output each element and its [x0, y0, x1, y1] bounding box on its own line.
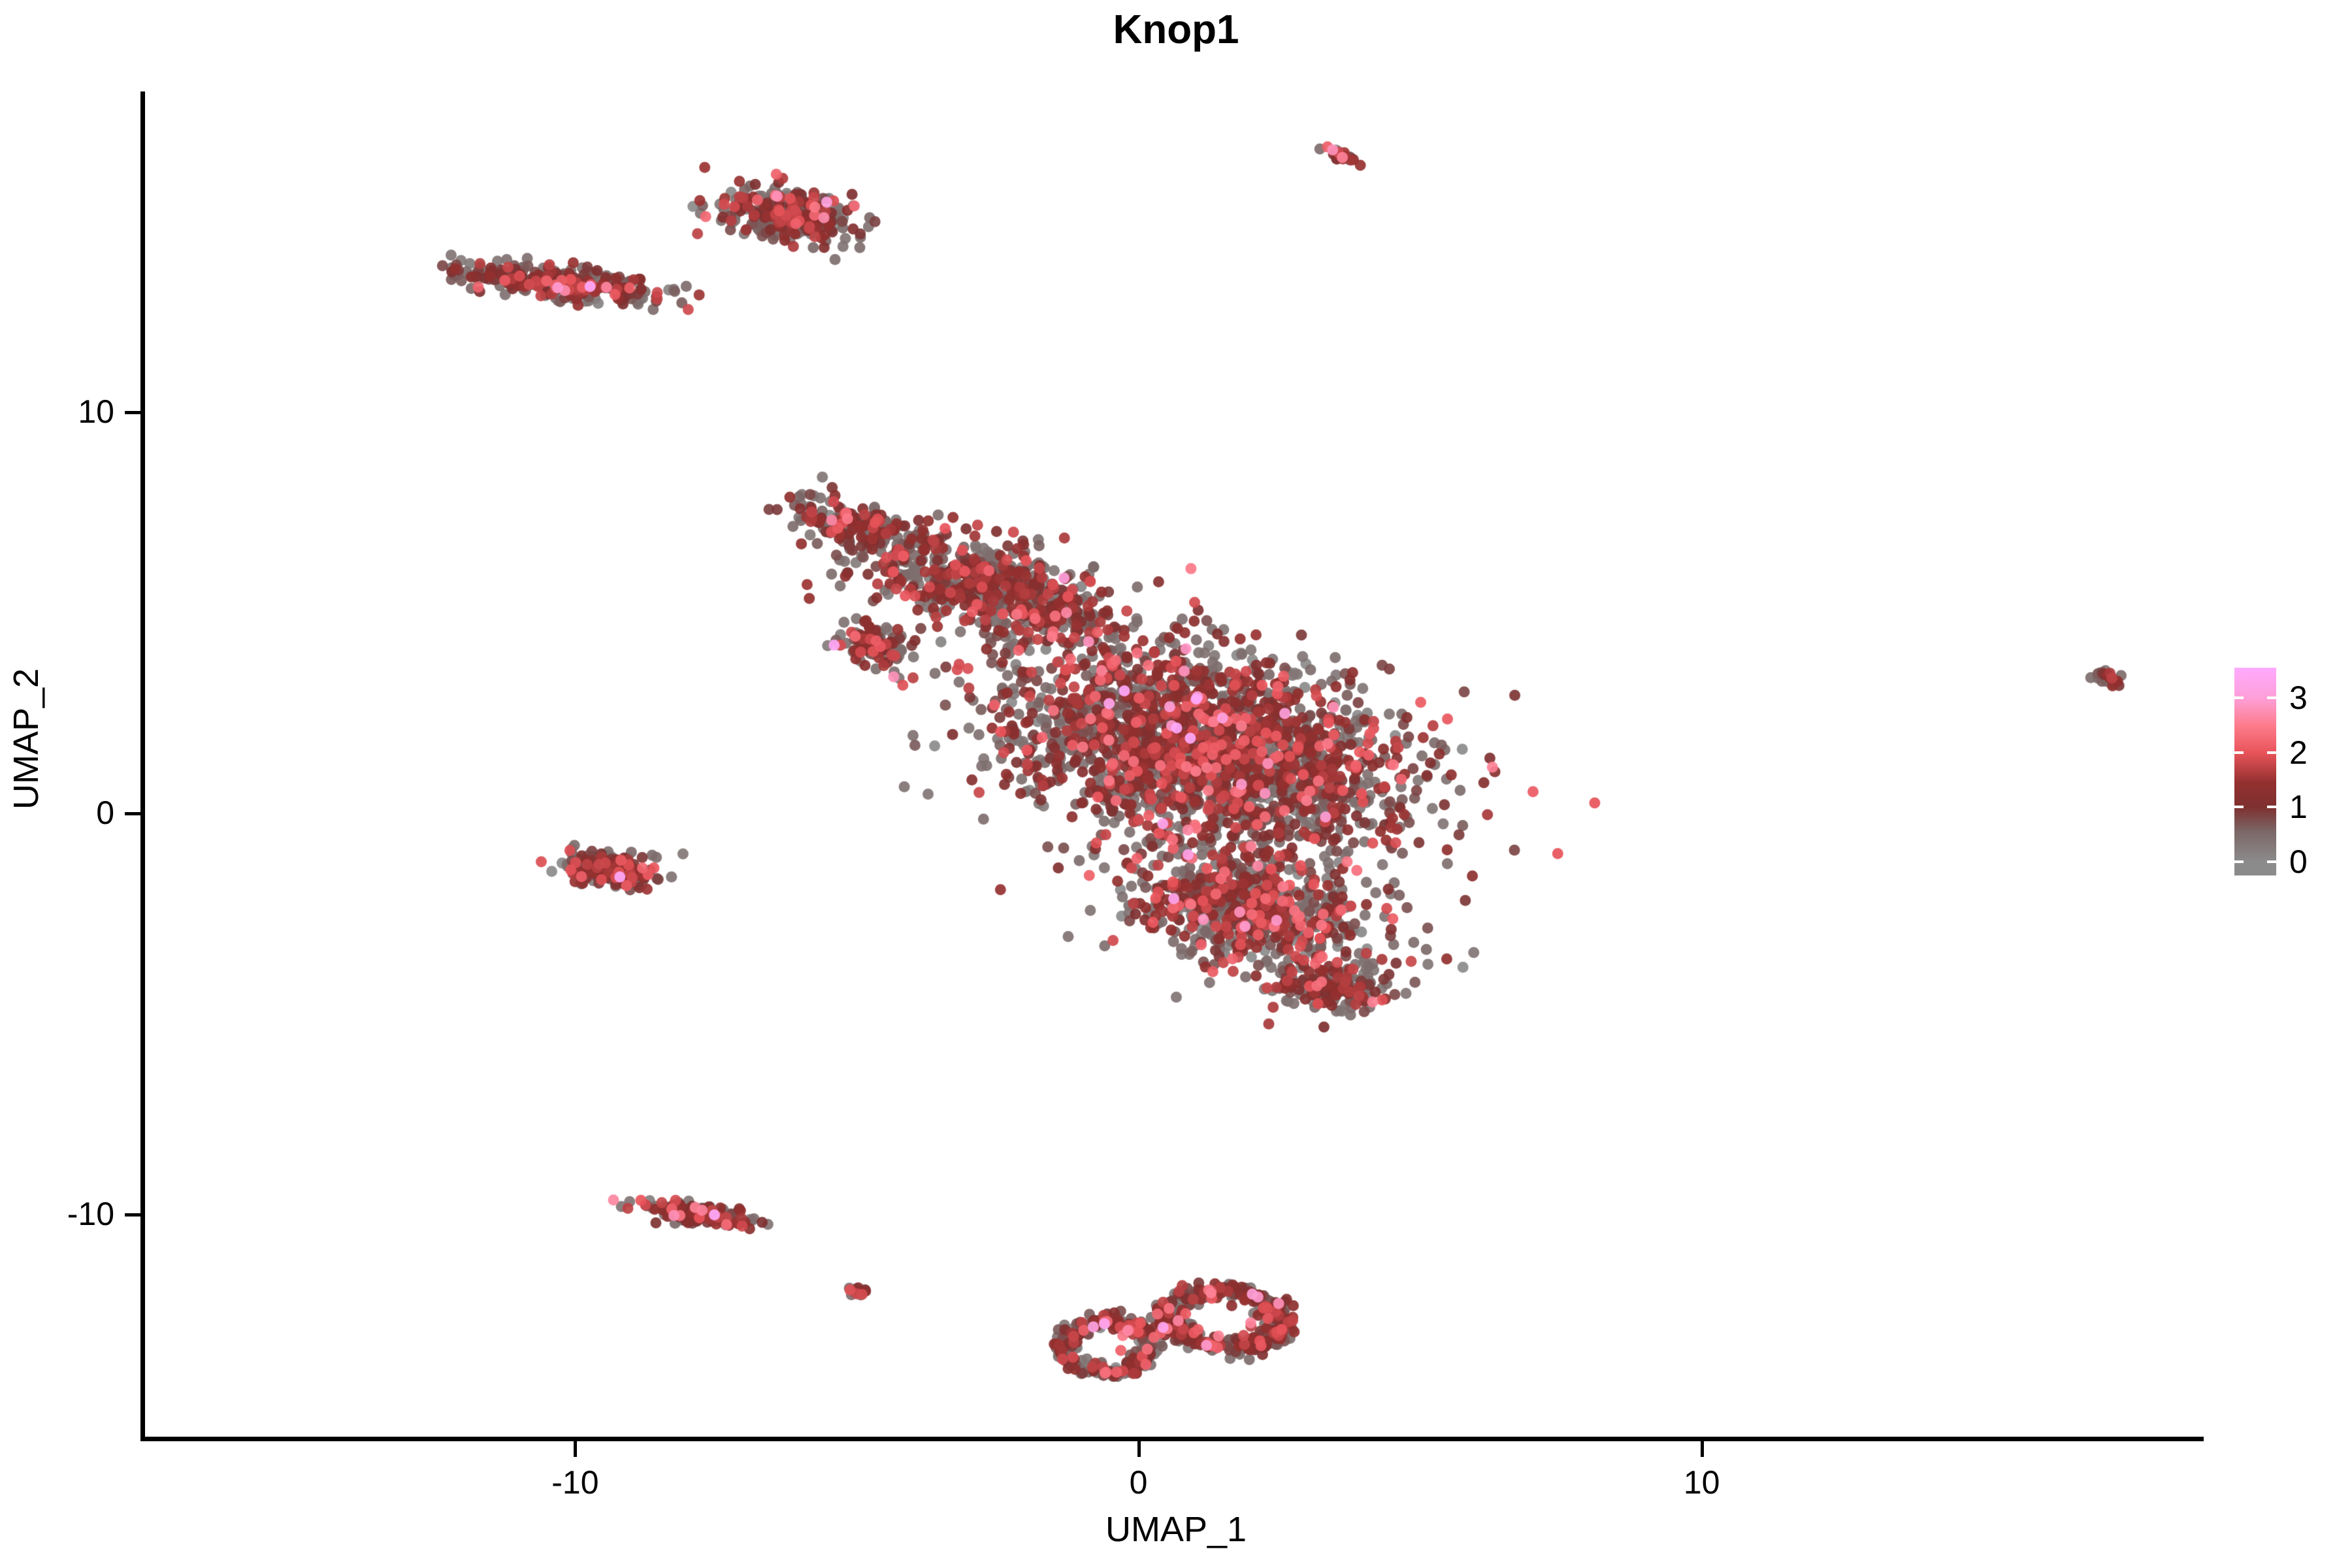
y-tick-mark [125, 812, 140, 815]
colorbar-tick-mark [2234, 696, 2244, 699]
x-tick-label: 10 [1684, 1463, 1720, 1501]
y-tick-label: 10 [78, 393, 114, 431]
colorbar-tick-mark [2267, 860, 2276, 863]
colorbar-tick-mark [2234, 860, 2244, 863]
colorbar-tick-label: 2 [2289, 736, 2308, 769]
colorbar-tick-mark [2234, 751, 2244, 754]
y-axis-line [140, 91, 145, 1441]
umap-feature-plot: Knop1 -10010-10010 UMAP_1 UMAP_2 0123 [0, 0, 2352, 1568]
plot-panel [372, 91, 2203, 1439]
y-axis-title: UMAP_2 [6, 347, 46, 1131]
x-tick-label: -10 [551, 1463, 598, 1501]
colorbar-tick-mark [2234, 806, 2244, 808]
colorbar-legend: 0123 [2234, 668, 2345, 883]
x-tick-label: 0 [1130, 1463, 1148, 1501]
x-tick-mark [574, 1441, 577, 1457]
colorbar-tick-label: 1 [2289, 791, 2308, 823]
page-title: Knop1 [0, 7, 2352, 53]
x-tick-mark [1137, 1441, 1141, 1457]
y-tick-mark [125, 1213, 140, 1217]
colorbar-tick-mark [2267, 751, 2276, 754]
y-tick-label: 0 [96, 794, 114, 832]
colorbar-tick-label: 3 [2289, 681, 2308, 714]
x-tick-mark [1701, 1441, 1704, 1457]
colorbar-tick-mark [2267, 696, 2276, 699]
scatter-points-canvas [372, 91, 2203, 1439]
x-axis-line [140, 1437, 2204, 1441]
x-axis-title: UMAP_1 [0, 1509, 2352, 1550]
colorbar-tick-mark [2267, 806, 2276, 808]
y-tick-mark [125, 411, 140, 414]
y-tick-label: -10 [67, 1195, 114, 1233]
colorbar-tick-label: 0 [2289, 845, 2308, 878]
